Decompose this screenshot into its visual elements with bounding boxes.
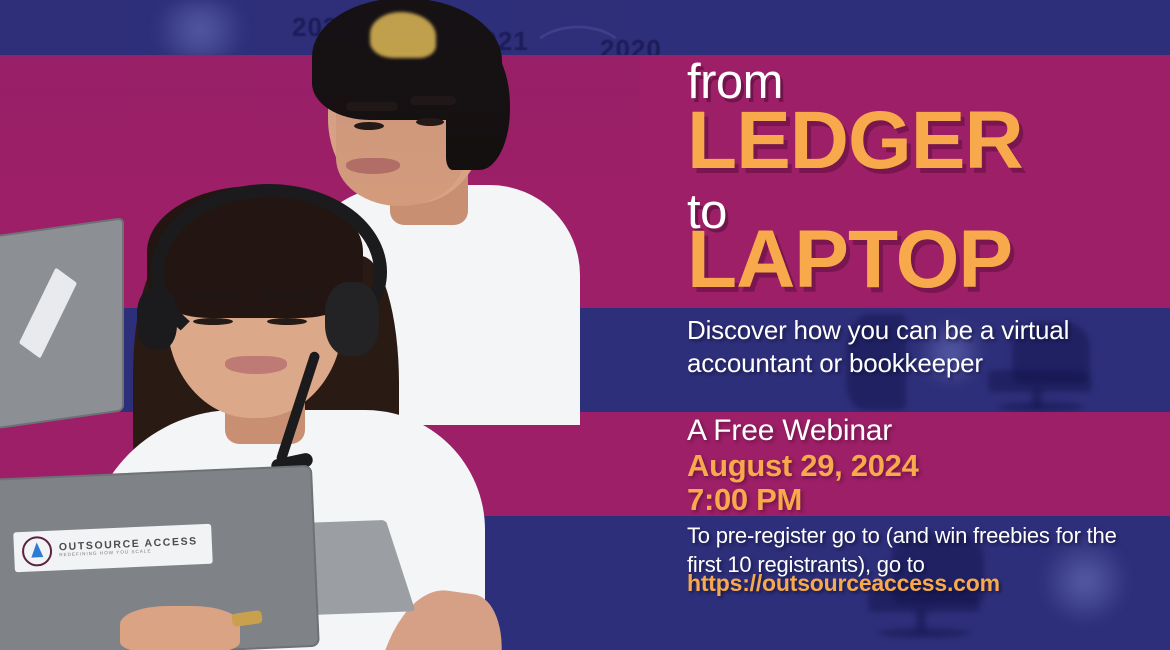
man-eyebrow (410, 96, 456, 105)
poster-text-column: from LEDGER to LAPTOP Discover how you c… (687, 0, 1157, 650)
webinar-label: A Free Webinar (687, 414, 892, 448)
sticker-text-block: OUTSOURCE ACCESS REDEFINING HOW YOU SCAL… (59, 536, 199, 558)
man-eye (416, 118, 444, 126)
webinar-promo-poster: 2020 2021 2020 (0, 0, 1170, 650)
headset-earcup (137, 288, 177, 350)
poster-subtitle: Discover how you can be a virtual accoun… (687, 314, 1117, 381)
hero-photo: OUTSOURCE ACCESS REDEFINING HOW YOU SCAL… (0, 0, 640, 650)
headset-earcup (325, 282, 379, 356)
headline-laptop: LAPTOP (687, 222, 1012, 297)
event-time: 7:00 PM (687, 482, 802, 518)
man-eye (354, 122, 384, 130)
laptop-rear (0, 217, 124, 433)
outsource-access-logo-icon (21, 536, 52, 567)
event-date: August 29, 2024 (687, 448, 919, 484)
headline-ledger: LEDGER (687, 103, 1023, 178)
man-hair-side (446, 42, 510, 170)
man-hair-highlight (370, 12, 436, 58)
registration-url[interactable]: https://outsourceaccess.com (687, 570, 1000, 597)
man-eyebrow (346, 102, 398, 111)
woman-hand (120, 606, 240, 650)
